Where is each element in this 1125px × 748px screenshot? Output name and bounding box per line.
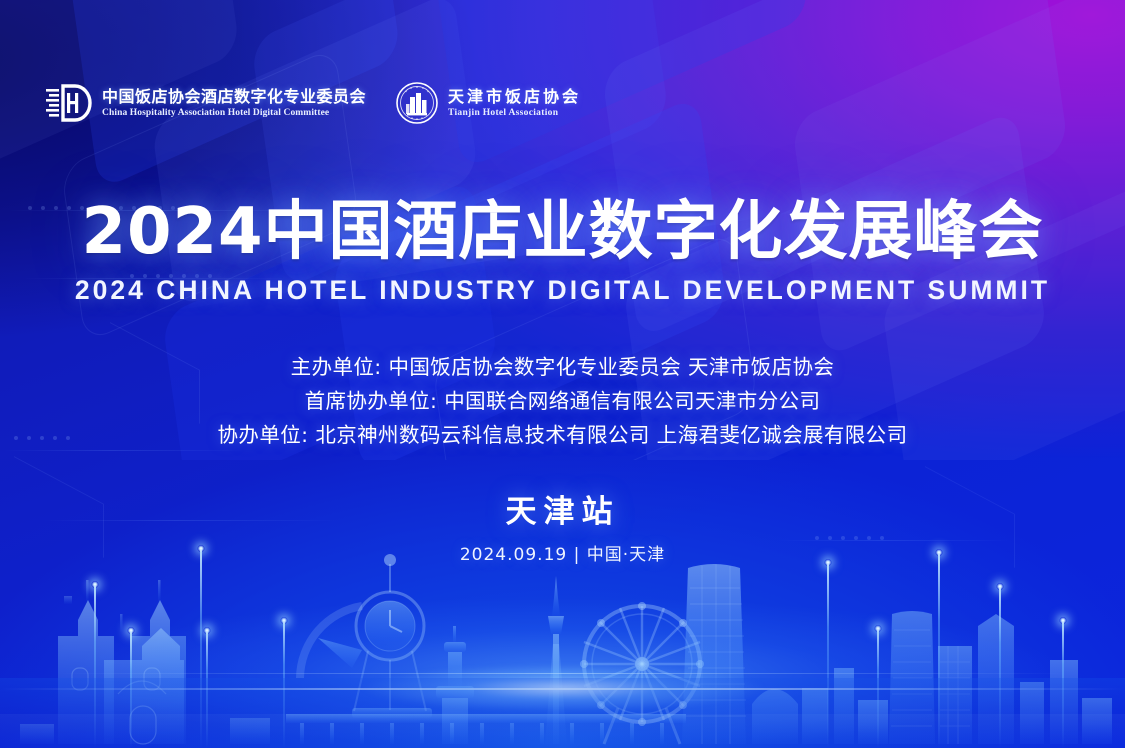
event-poster: 中国饭店协会酒店数字化专业委员会 China Hospitality Assoc…: [0, 0, 1125, 748]
organizer-lines: 主办单位: 中国饭店协会数字化专业委员会 天津市饭店协会 首席协办单位: 中国联…: [0, 350, 1125, 452]
logo-label-cn: 中国饭店协会酒店数字化专业委员会: [102, 88, 366, 106]
event-date-location: 2024.09.19 | 中国·天津: [0, 540, 1125, 565]
logo-tianjin-hotel-association: 天津市饭店协会 Tianjin Hotel Association: [396, 82, 581, 124]
organizer-logo-bar: 中国饭店协会酒店数字化专业委员会 China Hospitality Assoc…: [46, 82, 581, 124]
event-station: 天津站: [0, 486, 1125, 531]
chd-monogram-icon: [46, 84, 92, 122]
title-block: 2024中国酒店业数字化发展峰会 2024 CHINA HOTEL INDUST…: [0, 200, 1125, 306]
logo-china-hospitality-association: 中国饭店协会酒店数字化专业委员会 China Hospitality Assoc…: [46, 84, 366, 122]
page-title-cn: 2024中国酒店业数字化发展峰会: [0, 200, 1125, 265]
logo-label-en: Tianjin Hotel Association: [448, 108, 581, 118]
page-title-en: 2024 CHINA HOTEL INDUSTRY DIGITAL DEVELO…: [0, 275, 1125, 306]
logo-label-cn: 天津市饭店协会: [448, 88, 581, 106]
logo-label-en: China Hospitality Association Hotel Digi…: [102, 108, 366, 118]
organizer-line: 首席协办单位: 中国联合网络通信有限公司天津市分公司: [0, 384, 1125, 418]
tianjin-seal-icon: [396, 82, 438, 124]
organizer-line: 主办单位: 中国饭店协会数字化专业委员会 天津市饭店协会: [0, 350, 1125, 384]
organizer-line: 协办单位: 北京神州数码云科信息技术有限公司 上海君斐亿诚会展有限公司: [0, 418, 1125, 452]
event-station-block: 天津站 2024.09.19 | 中国·天津: [0, 486, 1125, 565]
